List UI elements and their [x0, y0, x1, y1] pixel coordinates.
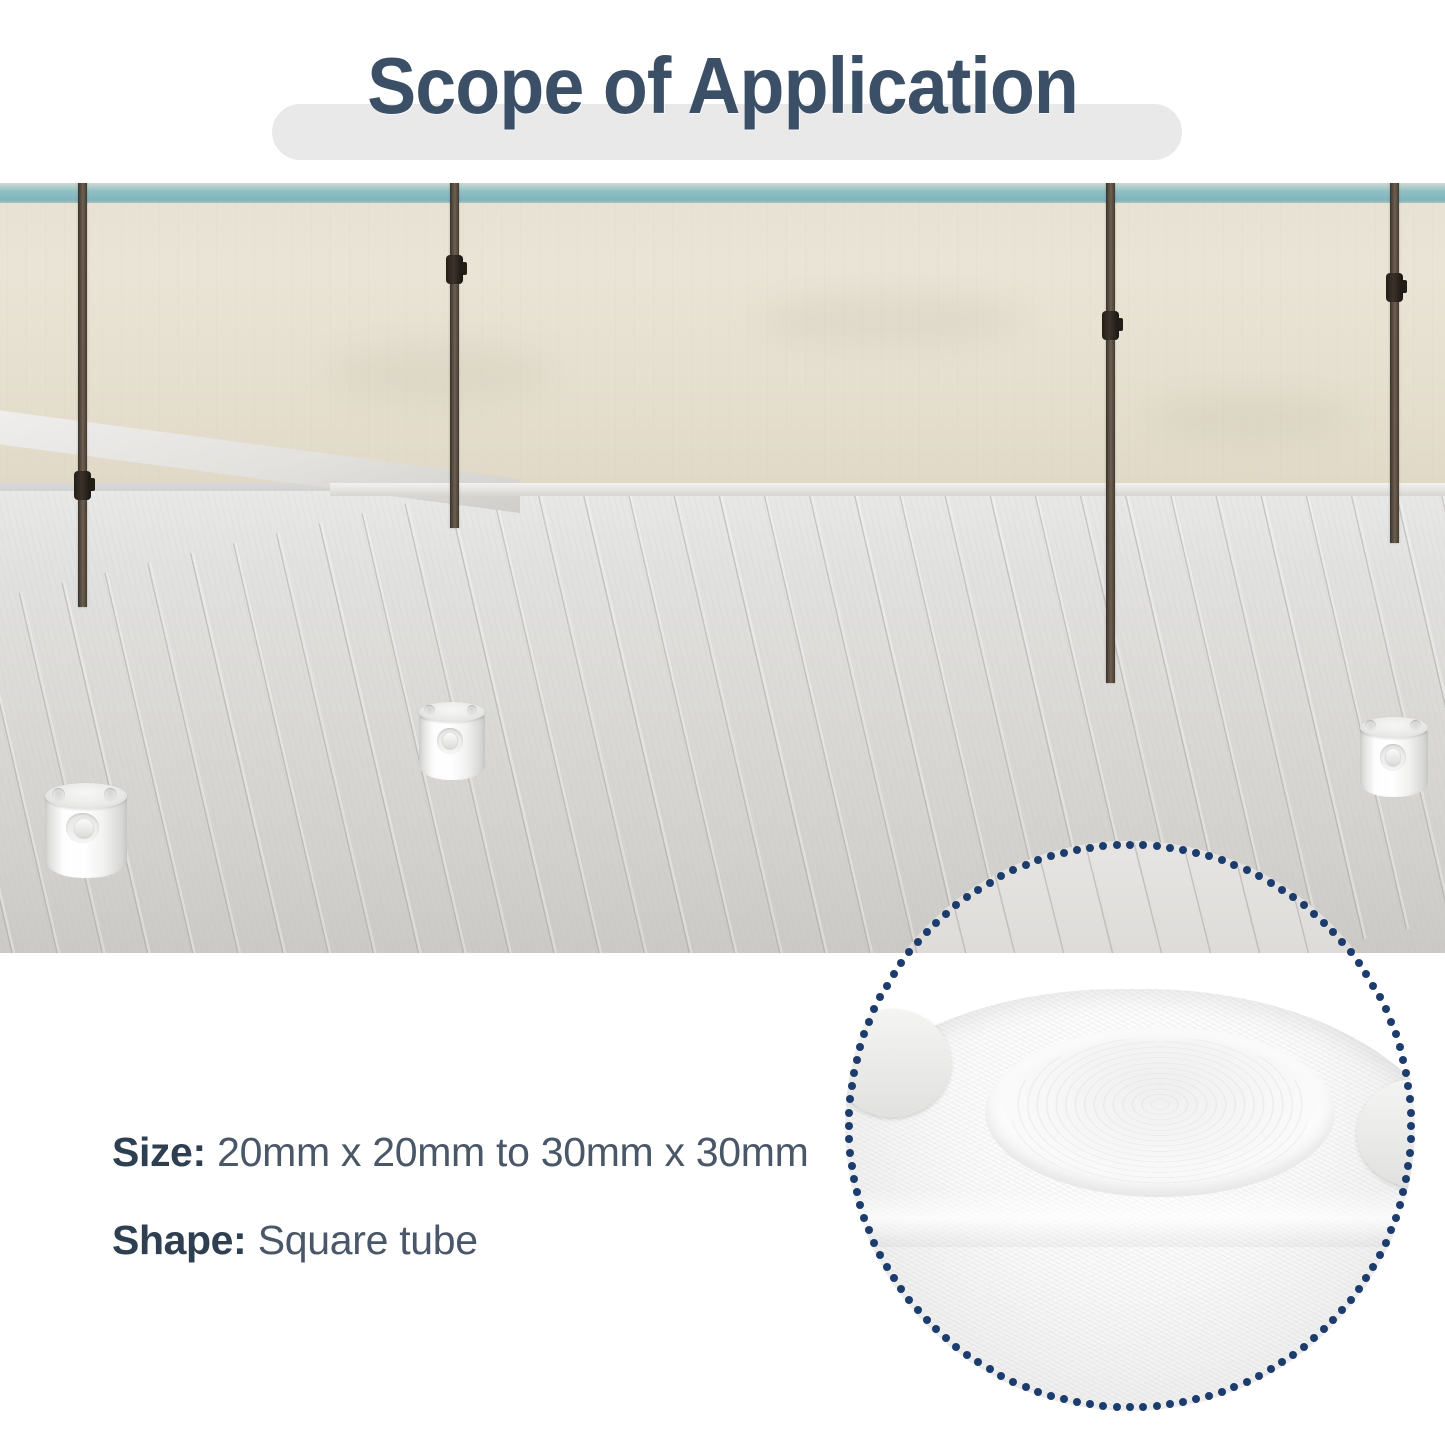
sand-blotch — [1150, 393, 1350, 443]
specification-list: Size: 20mm x 20mm to 30mm x 30mm Shape: … — [112, 1108, 932, 1284]
foot-hole — [1410, 720, 1421, 731]
foot-cover-2 — [419, 702, 485, 780]
sand-blotch — [330, 343, 550, 403]
spec-value-shape: Square tube — [258, 1217, 478, 1263]
spec-row-size: Size: 20mm x 20mm to 30mm x 30mm — [112, 1108, 932, 1196]
spec-row-shape: Shape: Square tube — [112, 1196, 932, 1284]
pole-clip-3 — [1102, 311, 1119, 340]
canopy-pole-1 — [78, 183, 87, 607]
zoom-detail-content — [845, 841, 1415, 1411]
foot-hole — [424, 705, 435, 716]
foot-teardrop-detail — [1386, 749, 1400, 765]
sand-blotch — [760, 293, 1020, 347]
canopy-pole-4 — [1390, 183, 1399, 543]
spec-label-shape: Shape: — [112, 1217, 246, 1263]
header-banner: Scope of Application — [0, 0, 1445, 183]
zoom-deck-background — [845, 841, 1415, 953]
scene-photo — [0, 183, 1445, 953]
spec-value-size: 20mm x 20mm to 30mm x 30mm — [217, 1129, 808, 1175]
foot-cover-1 — [45, 783, 127, 878]
cavity-ribs — [1011, 1037, 1309, 1187]
zoom-detail-circle — [845, 841, 1415, 1411]
pole-clip-4 — [1386, 273, 1403, 302]
canopy-pole-3 — [1106, 183, 1115, 683]
foot-hole — [1365, 720, 1376, 731]
pole-clip-2 — [446, 255, 463, 284]
foot-hole — [467, 705, 478, 716]
deck-back-edge — [330, 483, 1445, 496]
ring-highlight-band — [845, 1189, 1415, 1247]
foot-cover-4 — [1360, 717, 1428, 797]
page-title: Scope of Application — [58, 46, 1387, 126]
foot-hole — [52, 788, 65, 802]
canopy-pole-2 — [450, 183, 459, 528]
foot-teardrop-detail — [443, 733, 457, 748]
pole-clip-1 — [74, 471, 91, 500]
product-infographic: Scope of Application — [0, 0, 1445, 1445]
spec-label-size: Size: — [112, 1129, 206, 1175]
foot-teardrop-detail — [75, 819, 93, 837]
tube-cavity — [985, 1027, 1335, 1197]
